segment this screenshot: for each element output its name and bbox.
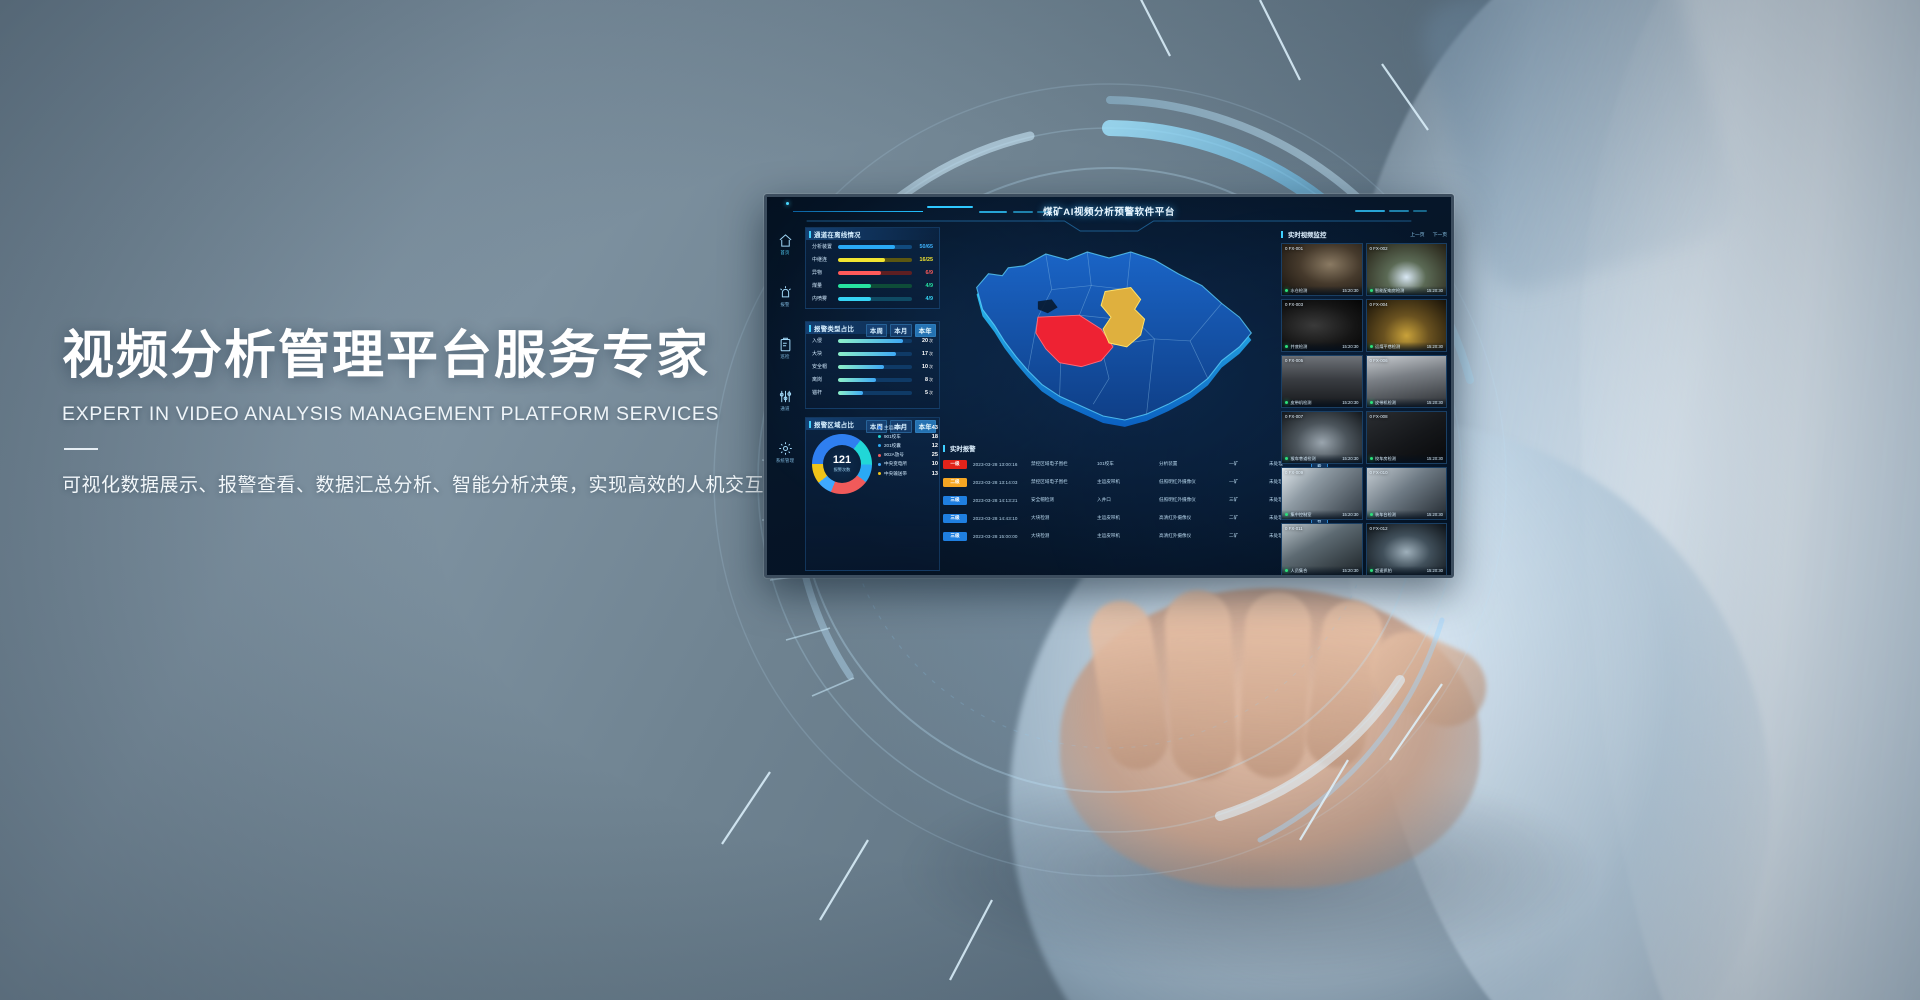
video-cell[interactable]: 0 FX-009集中控制室15:20:30	[1281, 467, 1363, 520]
period-tab[interactable]: 本年	[915, 324, 936, 337]
cell-time: 2023-03-28 13:14:03	[967, 480, 1031, 485]
progress-fill	[838, 378, 876, 382]
channel-label: 中继连	[812, 256, 838, 263]
legend-item: 中央输送带13	[878, 469, 938, 478]
cell-device: 低照明红外摄像仪	[1159, 479, 1229, 485]
panel-title: 报警区域占比	[814, 420, 854, 429]
cell-position: 主运皮带机	[1097, 515, 1159, 521]
panel-title: 报警类型占比	[814, 324, 854, 333]
clipboard-icon	[778, 337, 793, 352]
divider	[64, 448, 98, 450]
table-row: 三级2023-03-28 14:43:10大块检测主运皮带机高清红外摄像仪二矿未…	[943, 509, 1279, 527]
region-map[interactable]	[943, 229, 1279, 441]
video-name: 超速抓拍	[1375, 568, 1392, 574]
channel-rows: 分析装置50/65中继连16/25异物6/9煤量4/9内喷雾4/9	[806, 240, 939, 305]
dashboard-header: 煤矿AI视频分析预警软件平台	[767, 197, 1451, 227]
cell-grade: 二矿	[1229, 533, 1269, 539]
channel-row: 异物6/9	[806, 266, 939, 279]
cell-position: 101绞车	[1097, 461, 1159, 467]
online-status-dot	[1285, 513, 1288, 516]
alarm-type-label: 锚杆	[812, 389, 838, 396]
table-row: 二级2023-03-28 13:14:03禁控区域电子围栏主运皮带机低照明红外摄…	[943, 473, 1279, 491]
sidebar-item-5[interactable]: 系统管理	[767, 441, 803, 464]
video-name: 井底检测	[1291, 344, 1308, 350]
table-row: 三级2023-03-28 15:00:00大块检测主运皮带机高清红外摄像仪二矿未…	[943, 527, 1279, 545]
cell-time: 2023-03-28 14:43:10	[967, 516, 1031, 521]
legend-label: 中央输送带	[884, 471, 932, 477]
video-grid: 0 FX-001水仓检测15:20:300 FX-002智能配电房检测15:20…	[1281, 243, 1447, 576]
channel-label: 分析装置	[812, 243, 838, 250]
progress-bar	[838, 365, 912, 369]
video-timestamp: 15:20:30	[1342, 568, 1358, 573]
video-cell[interactable]: 0 FX-010装车台检测15:20:30	[1366, 467, 1448, 520]
period-tab[interactable]: 本月	[890, 324, 911, 337]
legend-value: 25	[932, 452, 938, 458]
channel-value: 50/65	[912, 244, 933, 250]
legend-value: 43	[932, 425, 938, 431]
legend-color-dot	[878, 426, 881, 429]
panel-header: 报警类型占比 本周本月本年	[806, 322, 939, 334]
status-badge: 三级	[943, 514, 967, 523]
online-status-dot	[1370, 345, 1373, 348]
online-status-dot	[1370, 513, 1373, 516]
online-status-dot	[1285, 457, 1288, 460]
progress-fill	[838, 258, 885, 262]
channel-status-panel: 通道在离线情况 分析装置50/65中继连16/25异物6/9煤量4/9内喷雾4/…	[805, 227, 940, 309]
legend-value: 18	[932, 434, 938, 440]
cell-position: 主运皮带机	[1097, 479, 1159, 485]
online-status-dot	[1285, 569, 1288, 572]
video-id-label: 0 FX-003	[1285, 302, 1303, 307]
video-id-label: 0 FX-001	[1285, 246, 1303, 251]
video-cell[interactable]: 0 FX-005皮带机检测15:20:30	[1281, 355, 1363, 408]
video-name: 皮带机检测	[1291, 400, 1312, 406]
cell-device: 分析装置	[1159, 461, 1229, 467]
progress-fill	[838, 391, 863, 395]
video-timestamp: 15:20:30	[1342, 512, 1358, 517]
video-name: 皮带机检测	[1375, 400, 1396, 406]
legend-label: 主运皮带	[884, 425, 932, 431]
cell-device: 高清红外摄像仪	[1159, 533, 1229, 539]
video-cell[interactable]: 0 FX-003井底检测15:20:30	[1281, 299, 1363, 352]
video-id-label: 0 FX-004	[1370, 302, 1388, 307]
video-timestamp: 15:20:30	[1427, 456, 1443, 461]
progress-bar	[838, 245, 912, 249]
sidebar-item-label: 报警	[767, 302, 803, 308]
donut-value: 121	[833, 455, 851, 466]
video-timestamp: 15:20:30	[1342, 400, 1358, 405]
video-cell[interactable]: 0 FX-001水仓检测15:20:30	[1281, 243, 1363, 296]
status-badge: 一级	[943, 460, 967, 469]
alarm-type-rows: 入侵20次大块17次安全帽10次离岗8次锚杆5次	[806, 334, 939, 399]
video-pager[interactable]: 上一页 下一页	[1410, 231, 1447, 238]
legend-item: 201绞囊12	[878, 441, 938, 450]
cell-type: 禁控区域电子围栏	[1031, 479, 1097, 485]
sidebar-item-3[interactable]: 巡检	[767, 337, 803, 360]
video-name: 装车台检测	[1375, 512, 1396, 518]
donut-legend: 主运皮带43901绞车18201绞囊12902A放号25中央变电所10中央输送带…	[878, 423, 938, 478]
legend-color-dot	[878, 472, 881, 475]
online-status-dot	[1370, 401, 1373, 404]
video-footer: 绞车房检测15:20:30	[1367, 454, 1447, 463]
sidebar-item-label: 首页	[767, 250, 803, 256]
video-cell[interactable]: 0 FX-002智能配电房检测15:20:30	[1366, 243, 1448, 296]
legend-label: 201绞囊	[884, 443, 932, 449]
cell-position: 主运皮带机	[1097, 533, 1159, 539]
next-page-button[interactable]: 下一页	[1433, 231, 1447, 238]
video-name: 运煤平巷检测	[1375, 344, 1400, 350]
sliders-icon	[778, 389, 793, 404]
donut-center: 121 报警次数	[823, 445, 861, 483]
video-id-label: 0 FX-009	[1285, 470, 1303, 475]
cell-device: 高清红外摄像仪	[1159, 515, 1229, 521]
online-status-dot	[1285, 289, 1288, 292]
video-id-label: 0 FX-011	[1285, 526, 1303, 531]
hero-description: 可视化数据展示、报警查看、数据汇总分析、智能分析决策，实现高效的人机交互	[62, 470, 822, 497]
video-cell[interactable]: 0 FX-008绞车房检测15:20:30	[1366, 411, 1448, 464]
dashboard-screen: 煤矿AI视频分析预警软件平台 首页报警巡检通道系统管理 通道在离线情况 分析装置…	[767, 197, 1451, 575]
legend-item: 主运皮带43	[878, 423, 938, 432]
alarm-type-row: 大块17次	[806, 347, 939, 360]
donut-chart: 121 报警次数	[812, 434, 872, 494]
table-row: 三级2023-03-28 14:13:21安全帽检测入井口低照明红外摄像仪三矿未…	[943, 491, 1279, 509]
video-id-label: 0 FX-007	[1285, 414, 1303, 419]
legend-color-dot	[878, 463, 881, 466]
legend-label: 901绞车	[884, 434, 932, 440]
hero-subtitle: EXPERT IN VIDEO ANALYSIS MANAGEMENT PLAT…	[62, 403, 822, 426]
legend-label: 中央变电所	[884, 461, 932, 467]
video-footer: 井底检测15:20:30	[1282, 342, 1362, 351]
progress-bar	[838, 258, 912, 262]
online-status-dot	[1370, 457, 1373, 460]
channel-row: 中继连16/25	[806, 253, 939, 266]
cell-type: 大块检测	[1031, 533, 1097, 539]
legend-item: 902A放号25	[878, 451, 938, 460]
progress-fill	[838, 365, 884, 369]
video-footer: 集中控制室15:20:30	[1282, 510, 1362, 519]
alarm-icon	[778, 285, 793, 300]
video-cell[interactable]: 0 FX-011人员集合15:20:30	[1281, 523, 1363, 576]
channel-value: 4/9	[912, 296, 933, 302]
video-name: 集中控制室	[1291, 512, 1312, 518]
alarm-type-label: 离岗	[812, 376, 838, 383]
alarm-type-panel: 报警类型占比 本周本月本年 入侵20次大块17次安全帽10次离岗8次锚杆5次	[805, 321, 940, 409]
video-footer: 人员集合15:20:30	[1282, 566, 1362, 575]
video-id-label: 0 FX-005	[1285, 358, 1303, 363]
alarm-type-value: 17次	[912, 351, 933, 357]
alarm-area-panel: 报警区域占比 本周本月本年 121 报警次数 主运皮带43901绞车18201绞…	[805, 417, 940, 571]
channel-value: 16/25	[912, 257, 933, 263]
sidebar: 首页报警巡检通道系统管理	[767, 223, 803, 575]
legend-color-dot	[878, 435, 881, 438]
video-footer: 超速抓拍15:20:30	[1367, 566, 1447, 575]
monitor-frame: 煤矿AI视频分析预警软件平台 首页报警巡检通道系统管理 通道在离线情况 分析装置…	[764, 194, 1454, 578]
legend-color-dot	[878, 454, 881, 457]
channel-value: 4/9	[912, 283, 933, 289]
left-panel-column: 通道在离线情况 分析装置50/65中继连16/25异物6/9煤量4/9内喷雾4/…	[805, 227, 940, 571]
table-row: 一级2023-03-28 13:00:16禁控区域电子围栏101绞车分析装置一矿…	[943, 455, 1279, 473]
legend-value: 10	[932, 461, 938, 467]
alarm-type-value: 10次	[912, 364, 933, 370]
video-cell[interactable]: 0 FX-004运煤平巷检测15:20:30	[1366, 299, 1448, 352]
alarm-type-label: 安全帽	[812, 363, 838, 370]
cell-type: 安全帽检测	[1031, 497, 1097, 503]
video-name: 绞车房检测	[1375, 456, 1396, 462]
video-timestamp: 15:20:30	[1342, 456, 1358, 461]
cell-time: 2023-03-28 14:13:21	[967, 498, 1031, 503]
sidebar-item-label: 通道	[767, 406, 803, 412]
video-name: 猴车巷道检测	[1291, 456, 1316, 462]
alarm-type-label: 大块	[812, 350, 838, 357]
video-footer: 智能配电房检测15:20:30	[1367, 286, 1447, 295]
sidebar-item-label: 系统管理	[767, 458, 803, 464]
progress-fill	[838, 297, 871, 301]
donut-label: 报警次数	[834, 467, 851, 473]
video-footer: 猴车巷道检测15:20:30	[1282, 454, 1362, 463]
video-cell[interactable]: 0 FX-012超速抓拍15:20:30	[1366, 523, 1448, 576]
cell-grade: 一矿	[1229, 461, 1269, 467]
page-title: 视频分析管理平台服务专家	[62, 325, 822, 387]
sidebar-item-label: 巡检	[767, 354, 803, 360]
channel-label: 异物	[812, 269, 838, 276]
alarm-type-row: 离岗8次	[806, 373, 939, 386]
video-monitor-section: 实时视频监控 上一页 下一页 0 FX-001水仓检测15:20:300 FX-…	[1281, 229, 1447, 571]
video-timestamp: 15:20:30	[1427, 288, 1443, 293]
alarm-type-value: 5次	[912, 390, 933, 396]
alarm-type-value: 8次	[912, 377, 933, 383]
gear-icon	[778, 441, 793, 456]
legend-label: 902A放号	[884, 452, 932, 458]
progress-bar	[838, 352, 912, 356]
video-id-label: 0 FX-006	[1370, 358, 1388, 363]
channel-row: 内喷雾4/9	[806, 292, 939, 305]
alarm-type-label: 入侵	[812, 337, 838, 344]
progress-bar	[838, 284, 912, 288]
alarm-type-row: 安全帽10次	[806, 360, 939, 373]
channel-row: 分析装置50/65	[806, 240, 939, 253]
video-timestamp: 15:20:30	[1427, 344, 1443, 349]
home-icon	[778, 233, 793, 248]
hero-text-block: 视频分析管理平台服务专家 EXPERT IN VIDEO ANALYSIS MA…	[62, 325, 822, 497]
progress-fill	[838, 271, 881, 275]
progress-fill	[838, 339, 903, 343]
sidebar-item-1[interactable]: 首页	[767, 233, 803, 256]
video-footer: 运煤平巷检测15:20:30	[1367, 342, 1447, 351]
alarm-type-row: 锚杆5次	[806, 386, 939, 399]
online-status-dot	[1370, 289, 1373, 292]
cell-grade: 三矿	[1229, 497, 1269, 503]
video-name: 智能配电房检测	[1375, 288, 1404, 294]
legend-item: 中央变电所10	[878, 460, 938, 469]
status-badge: 三级	[943, 532, 967, 541]
video-id-label: 0 FX-002	[1370, 246, 1388, 251]
video-id-label: 0 FX-008	[1370, 414, 1388, 419]
channel-label: 煤量	[812, 282, 838, 289]
online-status-dot	[1285, 345, 1288, 348]
video-id-label: 0 FX-012	[1370, 526, 1388, 531]
video-footer: 装车台检测15:20:30	[1367, 510, 1447, 519]
channel-value: 6/9	[912, 270, 933, 276]
video-cell[interactable]: 0 FX-007猴车巷道检测15:20:30	[1281, 411, 1363, 464]
status-badge: 二级	[943, 478, 967, 487]
channel-row: 煤量4/9	[806, 279, 939, 292]
legend-value: 13	[932, 471, 938, 477]
video-header: 实时视频监控 上一页 下一页	[1281, 229, 1447, 240]
section-header: 实时报警	[943, 443, 1279, 454]
sidebar-item-4[interactable]: 通道	[767, 389, 803, 412]
video-footer: 皮带机检测15:20:30	[1367, 398, 1447, 407]
cell-time: 2023-03-28 13:00:16	[967, 462, 1031, 467]
progress-fill	[838, 352, 896, 356]
panel-title: 通道在离线情况	[814, 230, 861, 239]
progress-bar	[838, 378, 912, 382]
alarm-type-value: 20次	[912, 338, 933, 344]
legend-value: 12	[932, 443, 938, 449]
progress-fill	[838, 284, 871, 288]
period-tab[interactable]: 本周	[866, 324, 887, 337]
video-id-label: 0 FX-010	[1370, 470, 1388, 475]
video-timestamp: 15:20:30	[1342, 344, 1358, 349]
video-footer: 水仓检测15:20:30	[1282, 286, 1362, 295]
status-badge: 三级	[943, 496, 967, 505]
progress-bar	[838, 391, 912, 395]
section-title: 实时视频监控	[1288, 230, 1326, 239]
video-cell[interactable]: 0 FX-006皮带机检测15:20:30	[1366, 355, 1448, 408]
section-title: 实时报警	[950, 444, 976, 453]
cell-type: 禁控区域电子围栏	[1031, 461, 1097, 467]
video-timestamp: 15:20:30	[1342, 288, 1358, 293]
progress-bar	[838, 339, 912, 343]
video-timestamp: 15:20:30	[1427, 568, 1443, 573]
cell-time: 2023-03-28 15:00:00	[967, 534, 1031, 539]
legend-item: 901绞车18	[878, 432, 938, 441]
app-title: 煤矿AI视频分析预警软件平台	[767, 204, 1451, 218]
video-timestamp: 15:20:30	[1427, 512, 1443, 517]
period-tabs[interactable]: 本周本月本年	[866, 324, 936, 337]
video-footer: 皮带机检测15:20:30	[1282, 398, 1362, 407]
video-timestamp: 15:20:30	[1427, 400, 1443, 405]
cell-position: 入井口	[1097, 497, 1159, 503]
cell-grade: 一矿	[1229, 479, 1269, 485]
cell-grade: 二矿	[1229, 515, 1269, 521]
realtime-alarm-section: 实时报警 一级2023-03-28 13:00:16禁控区域电子围栏101绞车分…	[943, 443, 1279, 571]
online-status-dot	[1370, 569, 1373, 572]
progress-bar	[838, 297, 912, 301]
progress-bar	[838, 271, 912, 275]
cell-type: 大块检测	[1031, 515, 1097, 521]
cell-device: 低照明红外摄像仪	[1159, 497, 1229, 503]
channel-label: 内喷雾	[812, 295, 838, 302]
video-name: 水仓检测	[1291, 288, 1308, 294]
online-status-dot	[1285, 401, 1288, 404]
legend-color-dot	[878, 444, 881, 447]
progress-fill	[838, 245, 895, 249]
alarm-table: 一级2023-03-28 13:00:16禁控区域电子围栏101绞车分析装置一矿…	[943, 455, 1279, 545]
panel-header: 通道在离线情况	[806, 228, 939, 240]
prev-page-button[interactable]: 上一页	[1410, 231, 1424, 238]
video-name: 人员集合	[1291, 568, 1308, 574]
sidebar-item-2[interactable]: 报警	[767, 285, 803, 308]
